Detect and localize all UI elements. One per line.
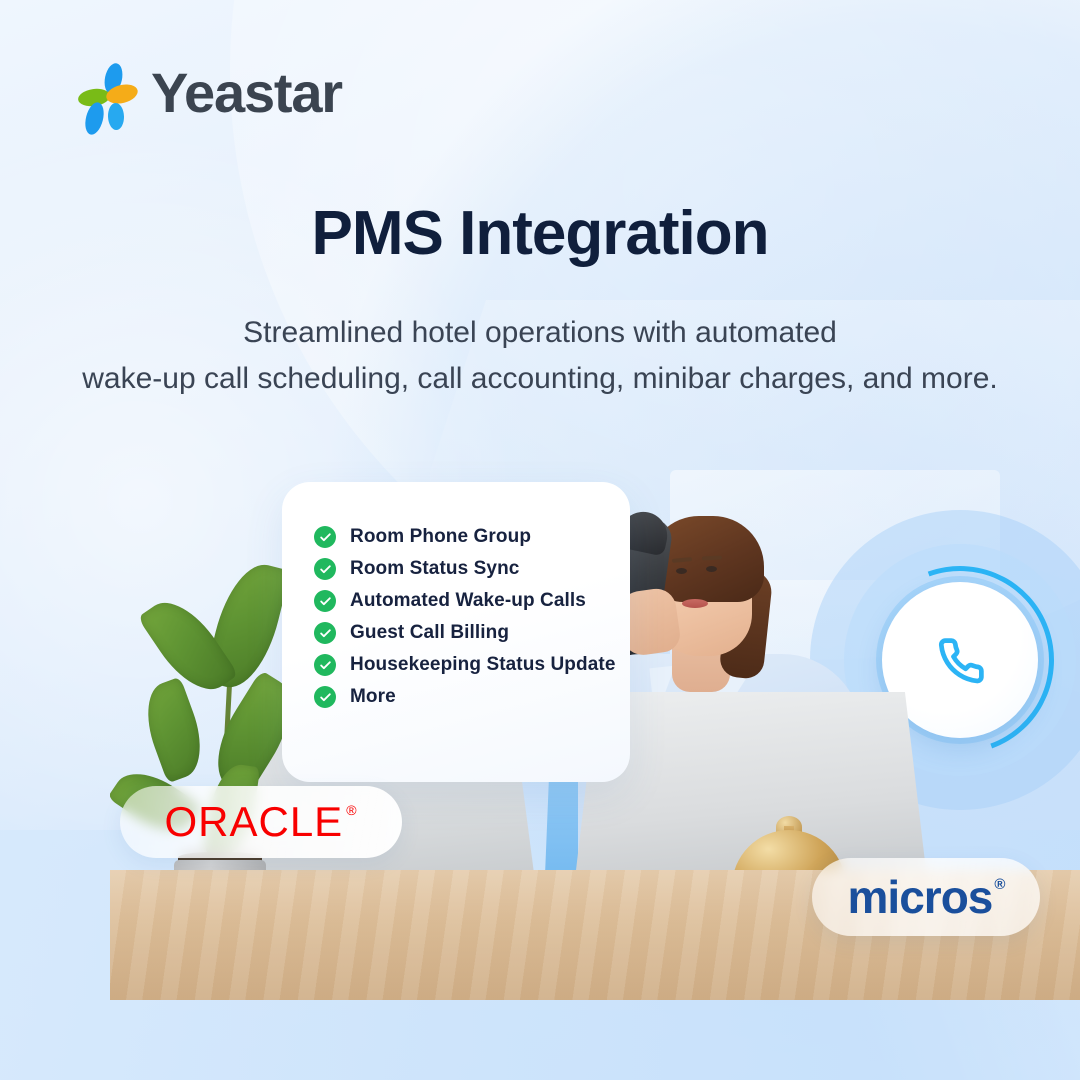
feature-label: Room Phone Group	[350, 526, 531, 548]
yeastar-flower-logo-icon	[78, 62, 140, 124]
check-circle-icon	[314, 622, 336, 644]
check-circle-icon	[314, 654, 336, 676]
partner-badge-oracle[interactable]: ORACLE ®	[120, 786, 402, 858]
subtitle-line-2: wake-up call scheduling, call accounting…	[50, 356, 1030, 402]
page-title: PMS Integration	[0, 198, 1080, 269]
subject-lips	[682, 599, 708, 608]
subtitle-line-1: Streamlined hotel operations with automa…	[50, 310, 1030, 356]
subject-eye-right	[706, 566, 717, 572]
subject-eye-left	[676, 568, 687, 574]
list-item[interactable]: Automated Wake-up Calls	[314, 590, 615, 612]
oracle-wordmark: ORACLE	[164, 798, 343, 846]
micros-trademark: ®	[994, 876, 1004, 893]
feature-list: Room Phone Group Room Status Sync Automa…	[314, 526, 615, 708]
micros-logo: micros ®	[848, 870, 1005, 924]
page-subtitle: Streamlined hotel operations with automa…	[0, 310, 1080, 401]
list-item[interactable]: More	[314, 686, 615, 708]
check-circle-icon	[314, 686, 336, 708]
partner-badge-micros[interactable]: micros ®	[812, 858, 1040, 936]
feature-label: Automated Wake-up Calls	[350, 590, 586, 612]
brand-logo[interactable]: Yeastar	[78, 62, 342, 124]
list-item[interactable]: Housekeeping Status Update	[314, 654, 615, 676]
list-item[interactable]: Room Status Sync	[314, 558, 615, 580]
check-circle-icon	[314, 558, 336, 580]
oracle-trademark: ®	[346, 802, 357, 818]
list-item[interactable]: Room Phone Group	[314, 526, 615, 548]
feature-label: Guest Call Billing	[350, 622, 509, 644]
micros-wordmark: micros	[848, 870, 993, 924]
feature-label: Housekeeping Status Update	[350, 654, 615, 676]
oracle-logo: ORACLE ®	[164, 798, 357, 846]
check-circle-icon	[314, 590, 336, 612]
brand-logo-text: Yeastar	[151, 65, 342, 121]
check-circle-icon	[314, 526, 336, 548]
list-item[interactable]: Guest Call Billing	[314, 622, 615, 644]
feature-label: More	[350, 686, 396, 708]
feature-label: Room Status Sync	[350, 558, 519, 580]
plant-leaf-4	[135, 677, 213, 784]
